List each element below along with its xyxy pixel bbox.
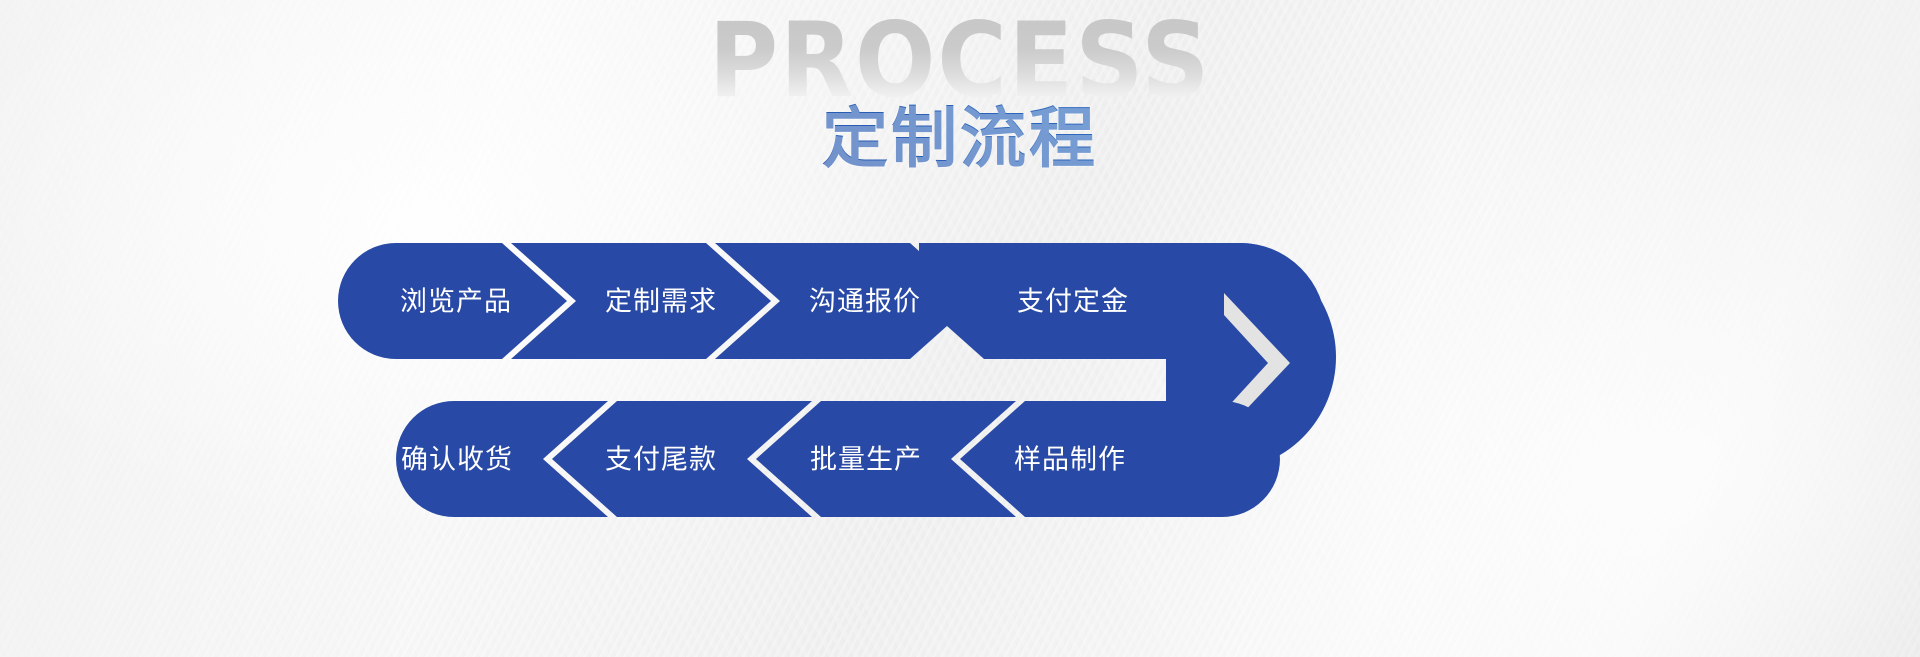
process-flow-diagram: 浏览产品 定制需求 沟通报价 支付定金 样品制作 批量生产 支付尾款 确认收货 [0, 215, 1920, 545]
header: PROCESS 定制流程 [0, 0, 1920, 215]
page-title: 定制流程 [0, 103, 1920, 176]
process-watermark-text: PROCESS [77, 10, 1843, 113]
flow-step-shape-5[interactable] [960, 401, 1280, 517]
flow-bottom-row [396, 401, 1280, 517]
